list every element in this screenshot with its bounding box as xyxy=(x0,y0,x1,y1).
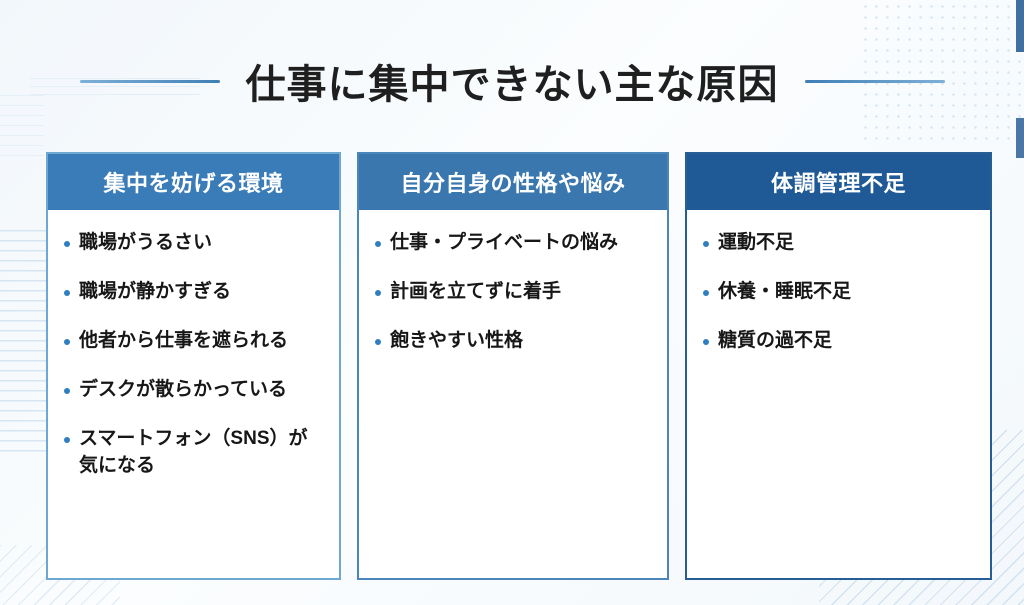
bullet-dot-icon xyxy=(64,388,70,394)
list-item-label: 職場が静かすぎる xyxy=(79,279,325,306)
bullet-dot-icon xyxy=(703,290,709,296)
bullet-dot-icon xyxy=(703,241,709,247)
list-item-label: スマートフォン（SNS）が気になる xyxy=(79,426,325,480)
list-item: 職場が静かすぎる xyxy=(64,279,325,306)
list-item: 運動不足 xyxy=(703,230,976,257)
list-item: 職場がうるさい xyxy=(64,230,325,257)
list-item-label: デスクが散らかっている xyxy=(79,377,325,404)
cards-container: 集中を妨げる環境 職場がうるさい 職場が静かすぎる 他者から仕事を遮られる デス… xyxy=(46,152,992,580)
card-body-personality: 仕事・プライベートの悩み 計画を立てずに着手 飽きやすい性格 xyxy=(359,210,667,578)
title-rule-left-icon xyxy=(80,80,220,83)
card-personality: 自分自身の性格や悩み 仕事・プライベートの悩み 計画を立てずに着手 飽きやすい性… xyxy=(357,152,669,580)
bullet-dot-icon xyxy=(64,290,70,296)
list-item-label: 仕事・プライベートの悩み xyxy=(390,230,653,257)
bullet-dot-icon xyxy=(375,241,381,247)
bullet-dot-icon xyxy=(64,437,70,443)
list-item: スマートフォン（SNS）が気になる xyxy=(64,426,325,480)
title-rule-right-icon xyxy=(805,80,945,83)
list-item-label: 糖質の過不足 xyxy=(718,328,976,355)
card-body-health: 運動不足 休養・睡眠不足 糖質の過不足 xyxy=(687,210,990,578)
card-environment: 集中を妨げる環境 職場がうるさい 職場が静かすぎる 他者から仕事を遮られる デス… xyxy=(46,152,341,580)
list-item: デスクが散らかっている xyxy=(64,377,325,404)
list-item-label: 計画を立てずに着手 xyxy=(390,279,653,306)
card-health: 体調管理不足 運動不足 休養・睡眠不足 糖質の過不足 xyxy=(685,152,992,580)
navy-bar-top-right xyxy=(1016,0,1024,52)
bullet-dot-icon xyxy=(64,241,70,247)
card-header-health: 体調管理不足 xyxy=(687,154,990,210)
bullet-list-environment: 職場がうるさい 職場が静かすぎる 他者から仕事を遮られる デスクが散らかっている… xyxy=(64,230,325,480)
card-header-environment: 集中を妨げる環境 xyxy=(48,154,339,210)
bullet-dot-icon xyxy=(375,290,381,296)
list-item: 計画を立てずに着手 xyxy=(375,279,653,306)
page-title: 仕事に集中できない主な原因 xyxy=(246,52,779,110)
bullet-dot-icon xyxy=(375,339,381,345)
slide-title-row: 仕事に集中できない主な原因 xyxy=(0,52,1024,110)
list-item-label: 運動不足 xyxy=(718,230,976,257)
bullet-dot-icon xyxy=(64,339,70,345)
bullet-list-health: 運動不足 休養・睡眠不足 糖質の過不足 xyxy=(703,230,976,355)
list-item-label: 他者から仕事を遮られる xyxy=(79,328,325,355)
list-item: 糖質の過不足 xyxy=(703,328,976,355)
list-item: 仕事・プライベートの悩み xyxy=(375,230,653,257)
list-item: 他者から仕事を遮られる xyxy=(64,328,325,355)
list-item-label: 休養・睡眠不足 xyxy=(718,279,976,306)
bullet-list-personality: 仕事・プライベートの悩み 計画を立てずに着手 飽きやすい性格 xyxy=(375,230,653,355)
card-body-environment: 職場がうるさい 職場が静かすぎる 他者から仕事を遮られる デスクが散らかっている… xyxy=(48,210,339,578)
list-item: 飽きやすい性格 xyxy=(375,328,653,355)
navy-bar-right xyxy=(1016,118,1024,158)
list-item-label: 職場がうるさい xyxy=(79,230,325,257)
bullet-dot-icon xyxy=(703,339,709,345)
list-item-label: 飽きやすい性格 xyxy=(390,328,653,355)
list-item: 休養・睡眠不足 xyxy=(703,279,976,306)
card-header-personality: 自分自身の性格や悩み xyxy=(359,154,667,210)
